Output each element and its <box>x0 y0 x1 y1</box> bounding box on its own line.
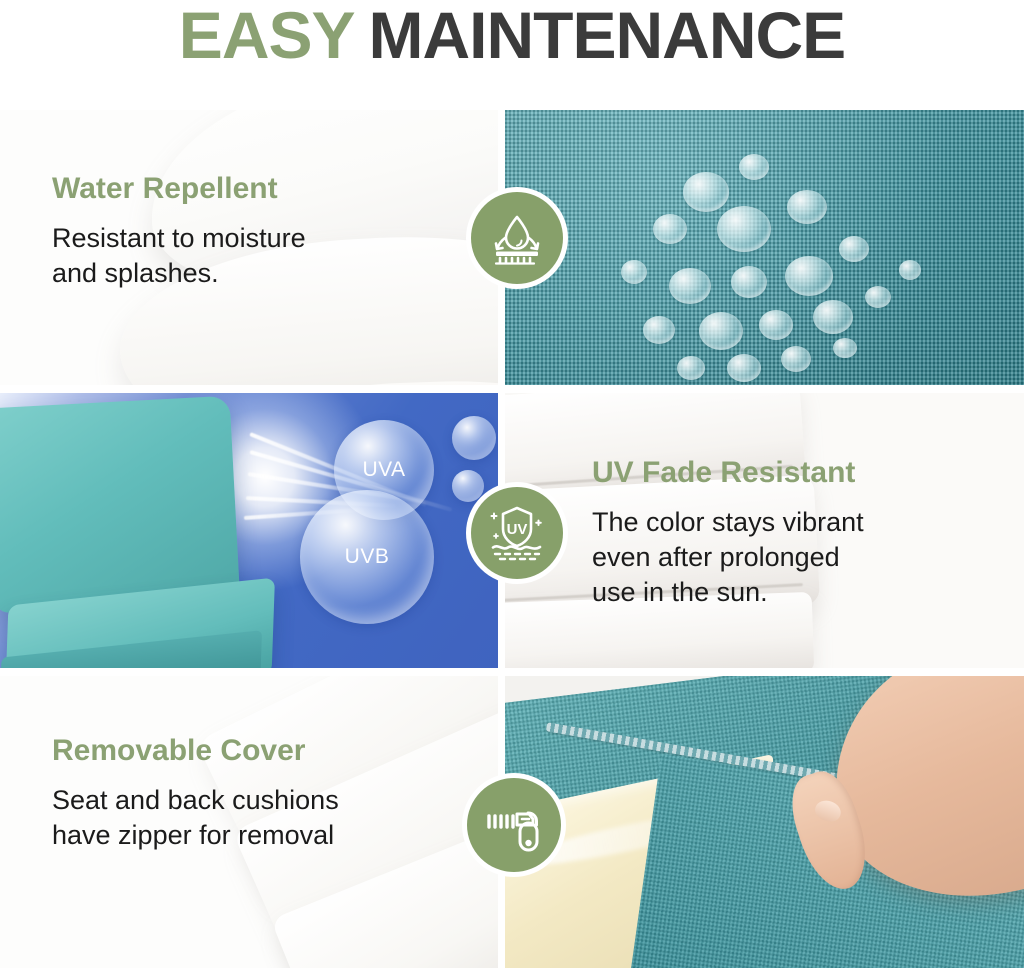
teal-cushion-sun-rays-photo: UVA UVB <box>0 392 503 672</box>
page-title-rest: MAINTENANCE <box>369 0 846 72</box>
water-droplet <box>677 356 705 380</box>
uv-bubble-small <box>452 470 484 502</box>
panel-uv-sun-scene: UVA UVB <box>0 392 503 672</box>
panel-zipper-photo <box>503 675 1024 968</box>
page-title: EASYMAINTENANCE <box>179 2 845 68</box>
uv-bubble-label: UVB <box>345 545 390 569</box>
uv-bubble-uvb: UVB <box>300 490 434 624</box>
panel-teal-fabric-water-beads <box>503 110 1024 390</box>
uv-bubble-label: UVA <box>362 458 405 482</box>
grid-divider-horizontal <box>0 385 1024 393</box>
hand-opening-zipper-teal-cover-photo <box>503 675 1024 968</box>
feature-title: Removable Cover <box>52 734 339 767</box>
water-droplet <box>643 316 675 344</box>
water-droplet <box>669 268 711 304</box>
feature-text-uv-fade-resistant: UV Fade Resistant The color stays vibran… <box>592 456 864 610</box>
water-droplet <box>813 300 853 334</box>
water-droplet <box>865 286 891 308</box>
feature-body-line: and splashes. <box>52 256 306 291</box>
feature-body-line: Resistant to moisture <box>52 221 306 256</box>
water-droplet-repellent-icon <box>471 192 563 284</box>
water-droplet <box>787 190 827 224</box>
feature-title: Water Repellent <box>52 172 306 205</box>
feature-text-water-repellent: Water Repellent Resistant to moisture an… <box>52 172 306 291</box>
water-droplet <box>739 154 769 180</box>
water-droplet <box>727 354 761 382</box>
water-droplet <box>839 236 869 262</box>
teal-back-cushion <box>0 396 240 614</box>
feature-body: Seat and back cushions have zipper for r… <box>52 783 339 853</box>
water-droplet <box>699 312 743 350</box>
page-header: EASYMAINTENANCE <box>0 0 1024 110</box>
water-droplet <box>899 260 921 280</box>
water-droplet <box>717 206 771 252</box>
feature-body-line: have zipper for removal <box>52 818 339 853</box>
uv-shield-icon: UV <box>471 487 563 579</box>
uv-bubble-small <box>452 416 496 460</box>
feature-title: UV Fade Resistant <box>592 456 864 489</box>
page-title-highlight: EASY <box>179 0 355 72</box>
water-droplet <box>621 260 647 284</box>
water-droplet-repellent-glyph <box>486 207 548 269</box>
feature-body-line: even after prolonged <box>592 540 864 575</box>
grid-divider-horizontal <box>0 668 1024 676</box>
water-droplet <box>653 214 687 244</box>
water-droplet <box>683 172 729 212</box>
feature-body: The color stays vibrant even after prolo… <box>592 505 864 610</box>
infographic-page: EASYMAINTENANCE <box>0 0 1024 968</box>
water-droplet <box>785 256 833 296</box>
feature-body-line: use in the sun. <box>592 575 864 610</box>
zipper-pull-glyph <box>481 792 547 858</box>
teal-woven-fabric-water-beads-photo <box>503 110 1024 390</box>
water-droplet <box>731 266 767 298</box>
water-droplet <box>781 346 811 372</box>
svg-text:UV: UV <box>507 521 528 538</box>
zipper-pull-icon <box>467 778 561 872</box>
water-droplet <box>759 310 793 340</box>
uv-shield-glyph: UV <box>485 501 549 565</box>
feature-text-removable-cover: Removable Cover Seat and back cushions h… <box>52 734 339 853</box>
feature-body-line: Seat and back cushions <box>52 783 339 818</box>
feature-body: Resistant to moisture and splashes. <box>52 221 306 291</box>
feature-body-line: The color stays vibrant <box>592 505 864 540</box>
water-droplet <box>833 338 857 358</box>
